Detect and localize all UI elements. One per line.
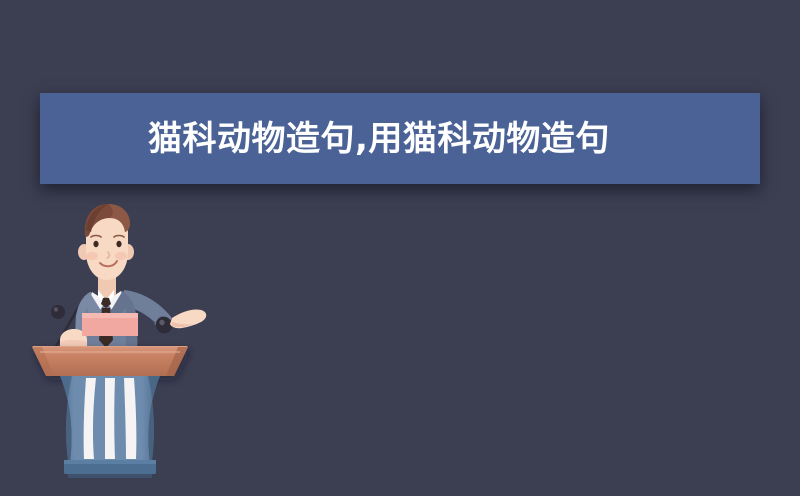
eye-right: [116, 241, 121, 247]
page-root: 猫科动物造句,用猫科动物造句: [0, 0, 800, 496]
head: [78, 204, 134, 280]
podium-stripes: [84, 378, 137, 459]
podium-foot: [64, 460, 156, 478]
podium-sign: [82, 313, 138, 336]
speaker-at-podium-illustration: [20, 200, 230, 496]
eye-left: [93, 241, 98, 247]
right-hand: [170, 309, 206, 328]
title-banner: 猫科动物造句,用猫科动物造句: [40, 93, 760, 184]
page-title: 猫科动物造句,用猫科动物造句: [148, 122, 610, 156]
podium-desk: [32, 346, 188, 376]
